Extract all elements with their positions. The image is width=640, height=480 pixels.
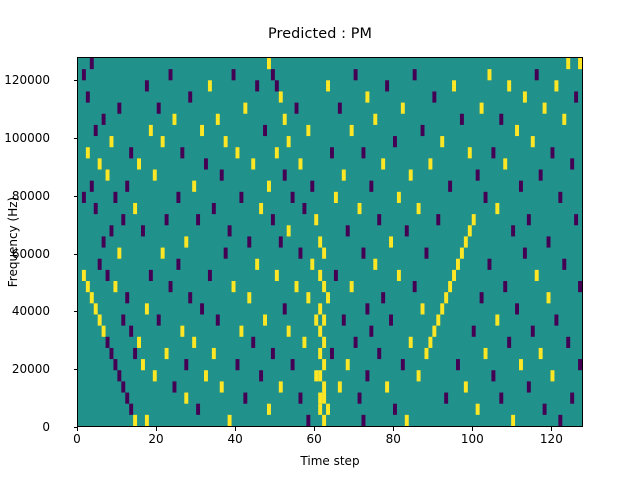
heatmap-cell [397,270,401,281]
heatmap-cell [405,415,409,426]
heatmap-cell [173,114,177,125]
heatmap-cell [275,80,279,91]
y-tick-label: 100000 [0,131,50,145]
heatmap-cell [137,337,141,348]
heatmap-cell [322,337,326,348]
x-tick-mark [314,427,315,431]
heatmap-cell [413,69,417,80]
heatmap-cell [98,314,102,325]
heatmap-cell [236,147,240,158]
heatmap-cell [554,80,558,91]
heatmap-cell [94,125,98,136]
heatmap-cell [117,248,121,259]
heatmap-cell [397,192,401,203]
heatmap-cell [106,337,110,348]
heatmap-cell [484,192,488,203]
heatmap-cell [409,170,413,181]
heatmap-cell [291,192,295,203]
heatmap-cell [299,393,303,404]
heatmap-cell [239,192,243,203]
heatmap-cell [149,125,153,136]
heatmap-cell [346,225,350,236]
heatmap-cell [385,80,389,91]
heatmap-cell [338,381,342,392]
heatmap-cell [279,91,283,102]
heatmap-cell [287,326,291,337]
heatmap-cell [421,125,425,136]
heatmap-cell [354,69,358,80]
heatmap-cell [302,337,306,348]
heatmap-cell [354,337,358,348]
heatmap-cell [547,236,551,247]
heatmap-cell [381,292,385,303]
heatmap-cell [295,103,299,114]
y-tick-mark [74,80,78,81]
heatmap-cell [208,80,212,91]
heatmap-cell [133,348,137,359]
heatmap-cell [362,248,366,259]
heatmap-cell [511,225,515,236]
heatmap-cell [98,259,102,270]
heatmap-cell [421,303,425,314]
heatmap-cell [488,69,492,80]
heatmap-cell [523,248,527,259]
heatmap-cell [503,158,507,169]
heatmap-cell [330,147,334,158]
heatmap-cell [393,404,397,415]
heatmap-cell [578,58,582,69]
heatmap-cell [456,259,460,270]
heatmap-cell [121,381,125,392]
heatmap-cell [283,303,287,314]
heatmap-cell [302,203,306,214]
heatmap-cell [200,125,204,136]
heatmap-cell [243,393,247,404]
heatmap-cell [161,248,165,259]
heatmap-cell [480,292,484,303]
y-tick-mark [74,369,78,370]
heatmap-cell [318,270,322,281]
heatmap-cell [330,348,334,359]
heatmap-cell [184,236,188,247]
heatmap-cell [283,114,287,125]
matplotlib-figure: Predicted : PM Frequency (Hz) Time step … [0,0,640,480]
page-title: Predicted : PM [0,26,640,42]
heatmap-cell [216,314,220,325]
heatmap-cell [365,370,369,381]
heatmap-cell [401,359,405,370]
heatmap-cell [350,281,354,292]
heatmap-cell [90,181,94,192]
heatmap-cell [173,381,177,392]
heatmap-cell [310,181,314,192]
heatmap-cell [373,259,377,270]
heatmap-cell [393,136,397,147]
heatmap-cell [405,225,409,236]
heatmap-cell [133,415,137,426]
heatmap-cell [102,236,106,247]
heatmap-cell [157,314,161,325]
heatmap-cell [255,259,259,270]
heatmap-cell [291,359,295,370]
heatmap-cell [239,326,243,337]
heatmap-cell [551,147,555,158]
heatmap-cell [192,181,196,192]
heatmap-cell [94,303,98,314]
heatmap-cell [165,348,169,359]
heatmap-cell [306,292,310,303]
heatmap-cell [346,359,350,370]
heatmap-cell [137,158,141,169]
heatmap-cell [110,225,114,236]
heatmap-cell [499,393,503,404]
heatmap-cell [271,348,275,359]
y-tick-label: 20000 [0,362,50,376]
heatmap-cell [365,303,369,314]
heatmap-cell [484,348,488,359]
heatmap-cell [322,359,326,370]
heatmap-cell [499,114,503,125]
heatmap-cell [444,292,448,303]
heatmap-cell [448,181,452,192]
y-tick-label: 80000 [0,189,50,203]
heatmap-cell [535,69,539,80]
heatmap-cell [295,281,299,292]
heatmap-cell [362,415,366,426]
x-tick-mark [393,427,394,431]
heatmap-cell [314,314,318,325]
heatmap-cell [444,393,448,404]
heatmap-cell [157,103,161,114]
heatmap-cell [495,203,499,214]
heatmap-cell [440,136,444,147]
x-axis-label: Time step [77,454,583,468]
heatmap-cell [232,69,236,80]
heatmap-cell [125,393,129,404]
heatmap-cell [425,248,429,259]
heatmap-cell [476,170,480,181]
heatmap-cell [362,147,366,158]
heatmap-cell [318,348,322,359]
heatmap-cell [117,103,121,114]
heatmap-cell [196,404,200,415]
heatmap-cell [236,359,240,370]
heatmap-cell [566,58,570,69]
heatmap-cell [90,292,94,303]
x-tick-label: 20 [148,432,163,446]
heatmap-cell [539,170,543,181]
x-tick-mark [77,427,78,431]
heatmap-cell [228,415,232,426]
heatmap-cell [322,393,326,404]
heatmap-cell [306,125,310,136]
heatmap-cell [468,225,472,236]
heatmap-cell [436,314,440,325]
heatmap-cell [86,91,90,102]
heatmap-cell [535,270,539,281]
heatmap-cell [82,69,86,80]
heatmap-cell [543,404,547,415]
heatmap-cell [448,281,452,292]
heatmap-cell [495,314,499,325]
heatmap-cell [314,370,318,381]
heatmap-cell [259,203,263,214]
heatmap-cell [452,270,456,281]
y-tick-label: 60000 [0,247,50,261]
heatmap-cell [369,181,373,192]
heatmap-cell [125,181,129,192]
heatmap-image[interactable] [78,58,582,426]
heatmap-cell [334,192,338,203]
heatmap-cell [216,114,220,125]
x-tick-mark [551,427,552,431]
heatmap-cell [377,348,381,359]
heatmap-cell [389,314,393,325]
heatmap-cell [255,80,259,91]
heatmap-cell [267,181,271,192]
heatmap-cell [547,292,551,303]
heatmap-cell [204,370,208,381]
heatmap-cell [558,192,562,203]
heatmap-cell [263,314,267,325]
heatmap-cell [562,114,566,125]
heatmap-cell [519,359,523,370]
heatmap-cell [212,203,216,214]
heatmap-cell [413,281,417,292]
heatmap-cell [121,314,125,325]
heatmap-cell [82,192,86,203]
heatmap-axes[interactable] [77,57,583,427]
heatmap-cell [523,91,527,102]
heatmap-cell [566,337,570,348]
heatmap-cell [90,58,94,69]
heatmap-cell [145,415,149,426]
heatmap-cell [436,214,440,225]
heatmap-cell [440,303,444,314]
heatmap-cell [432,326,436,337]
heatmap-cell [543,103,547,114]
heatmap-cell [251,158,255,169]
heatmap-cell [283,170,287,181]
heatmap-cell [326,80,330,91]
heatmap-cell [531,136,535,147]
heatmap-cell [102,326,106,337]
heatmap-cell [141,225,145,236]
heatmap-cell [562,259,566,270]
heatmap-cell [507,337,511,348]
y-tick-label: 120000 [0,73,50,87]
heatmap-cell [342,170,346,181]
heatmap-cell [180,147,184,158]
heatmap-cell [322,314,326,325]
y-tick-label: 40000 [0,304,50,318]
heatmap-cell [515,303,519,314]
heatmap-cell [570,393,574,404]
heatmap-cell [432,91,436,102]
x-tick-mark [156,427,157,431]
heatmap-cell [228,225,232,236]
heatmap-cell [491,147,495,158]
heatmap-cell [180,326,184,337]
heatmap-cell [334,270,338,281]
heatmap-cell [322,248,326,259]
heatmap-cell [279,236,283,247]
y-tick-mark [74,254,78,255]
heatmap-cell [94,203,98,214]
heatmap-cell [460,114,464,125]
heatmap-cell [287,225,291,236]
heatmap-cell [98,158,102,169]
heatmap-cell [326,404,330,415]
y-tick-label: 0 [0,420,50,434]
heatmap-cell [208,270,212,281]
x-tick-label: 0 [73,432,81,446]
heatmap-cell [310,259,314,270]
heatmap-cell [82,270,86,281]
heatmap-cell [86,281,90,292]
heatmap-cell [188,292,192,303]
heatmap-cell [117,370,121,381]
heatmap-cell [358,393,362,404]
x-tick-label: 100 [461,432,484,446]
heatmap-cell [133,203,137,214]
heatmap-cell [106,270,110,281]
heatmap-cell [318,404,322,415]
heatmap-cell [503,281,507,292]
heatmap-cell [318,393,322,404]
heatmap-cell [322,281,326,292]
heatmap-cell [365,91,369,102]
heatmap-cell [184,359,188,370]
heatmap-cell [425,348,429,359]
heatmap-cell [472,326,476,337]
heatmap-cell [196,214,200,225]
heatmap-cell [299,248,303,259]
heatmap-cell [373,114,377,125]
y-tick-mark [74,196,78,197]
heatmap-cell [554,314,558,325]
heatmap-cell [161,136,165,147]
heatmap-cell [369,326,373,337]
heatmap-cell [476,404,480,415]
heatmap-cell [145,303,149,314]
heatmap-cell [275,147,279,158]
heatmap-cell [110,136,114,147]
heatmap-cell [377,214,381,225]
heatmap-cell [113,281,117,292]
heatmap-cell [259,370,263,381]
heatmap-cell [275,270,279,281]
heatmap-cell [247,292,251,303]
heatmap-cell [149,270,153,281]
heatmap-cell [551,370,555,381]
heatmap-cell [176,259,180,270]
heatmap-cell [232,281,236,292]
heatmap-cell [464,236,468,247]
heatmap-cell [578,359,582,370]
heatmap-cell [322,415,326,426]
heatmap-cell [314,214,318,225]
heatmap-cell [452,80,456,91]
heatmap-cell [106,170,110,181]
y-axis-label: Frequency (Hz) [6,197,20,288]
heatmap-cell [129,404,133,415]
heatmap-cell [342,314,346,325]
heatmap-cell [531,326,535,337]
heatmap-cell [318,370,322,381]
heatmap-cell [488,259,492,270]
x-tick-label: 120 [540,432,563,446]
heatmap-cell [220,381,224,392]
heatmap-cell [153,170,157,181]
heatmap-cell [456,359,460,370]
y-tick-mark [74,311,78,312]
heatmap-cell [121,214,125,225]
heatmap-cell [220,170,224,181]
x-tick-label: 80 [386,432,401,446]
heatmap-cell [464,381,468,392]
heatmap-cell [243,103,247,114]
heatmap-cell [318,236,322,247]
heatmap-cell [322,381,326,392]
heatmap-cell [169,281,173,292]
heatmap-cell [401,103,405,114]
heatmap-cell [417,370,421,381]
heatmap-cell [578,281,582,292]
heatmap-cell [318,303,322,314]
heatmap-cell [165,214,169,225]
heatmap-cell [153,370,157,381]
heatmap-cell [299,158,303,169]
heatmap-cell [287,136,291,147]
heatmap-cell [267,404,271,415]
heatmap-cell [468,147,472,158]
heatmap-cell [491,370,495,381]
heatmap-cell [480,103,484,114]
heatmap-cell [200,303,204,314]
heatmap-cell [338,103,342,114]
heatmap-cell [129,326,133,337]
heatmap-cell [113,359,117,370]
heatmap-cell [212,348,216,359]
heatmap-cell [428,158,432,169]
heatmap-cell [558,415,562,426]
heatmap-cell [574,91,578,102]
heatmap-cell [188,91,192,102]
heatmap-cell [472,214,476,225]
heatmap-cell [385,381,389,392]
heatmap-cell [247,236,251,247]
heatmap-cell [519,181,523,192]
heatmap-cell [318,326,322,337]
heatmap-cell [279,381,283,392]
heatmap-cell [507,80,511,91]
heatmap-cell [251,337,255,348]
heatmap-cell [271,69,275,80]
heatmap-cell [574,214,578,225]
heatmap-cell [102,114,106,125]
heatmap-cell [306,415,310,426]
y-tick-mark [74,138,78,139]
heatmap-cell [267,58,271,69]
heatmap-cell [326,292,330,303]
heatmap-cell [515,125,519,136]
heatmap-cell [527,381,531,392]
x-tick-mark [235,427,236,431]
heatmap-cell [224,248,228,259]
heatmap-cell [110,348,114,359]
heatmap-cell [527,214,531,225]
